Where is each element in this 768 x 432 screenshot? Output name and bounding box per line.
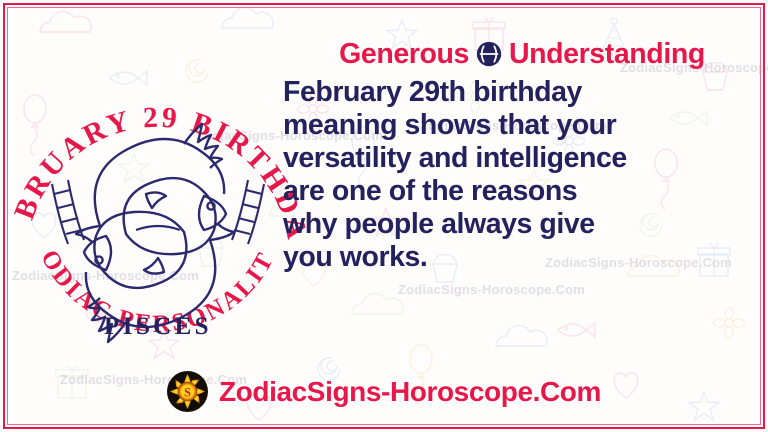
footer: S ZodiacSigns-Horoscope.Com xyxy=(0,371,768,412)
body-line: versatility and intelligence xyxy=(283,142,761,175)
zsh-sun-logo-icon: S xyxy=(167,371,208,412)
zodiac-birthday-card: ZodiacSigns-Horoscope.Com ZodiacSigns-Ho… xyxy=(0,0,768,432)
body-line: are one of the reasons xyxy=(283,175,761,208)
pisces-icon xyxy=(476,41,502,67)
headline: Generous Understanding xyxy=(283,40,761,69)
emblem-sign-label: PISCES xyxy=(104,313,212,340)
footer-site-name: ZodiacSigns-Horoscope.Com xyxy=(219,378,601,406)
body-line: why people always give xyxy=(283,208,761,241)
body-line: February 29th birthday xyxy=(283,76,761,109)
body-line: meaning shows that your xyxy=(283,109,761,142)
body-text: February 29th birthday meaning shows tha… xyxy=(283,76,761,275)
headline-left-word: Generous xyxy=(339,40,469,69)
logo-monogram: S xyxy=(184,386,191,400)
zodiac-emblem: FEBRUARY 29 BIRTHDAY ZODIAC PERSONALITY xyxy=(8,34,308,364)
emblem-ornament-right xyxy=(232,180,264,244)
body-line: you works. xyxy=(283,241,761,274)
headline-right-word: Understanding xyxy=(509,40,705,69)
content-column: Generous Understanding February 29th bir… xyxy=(283,40,761,275)
